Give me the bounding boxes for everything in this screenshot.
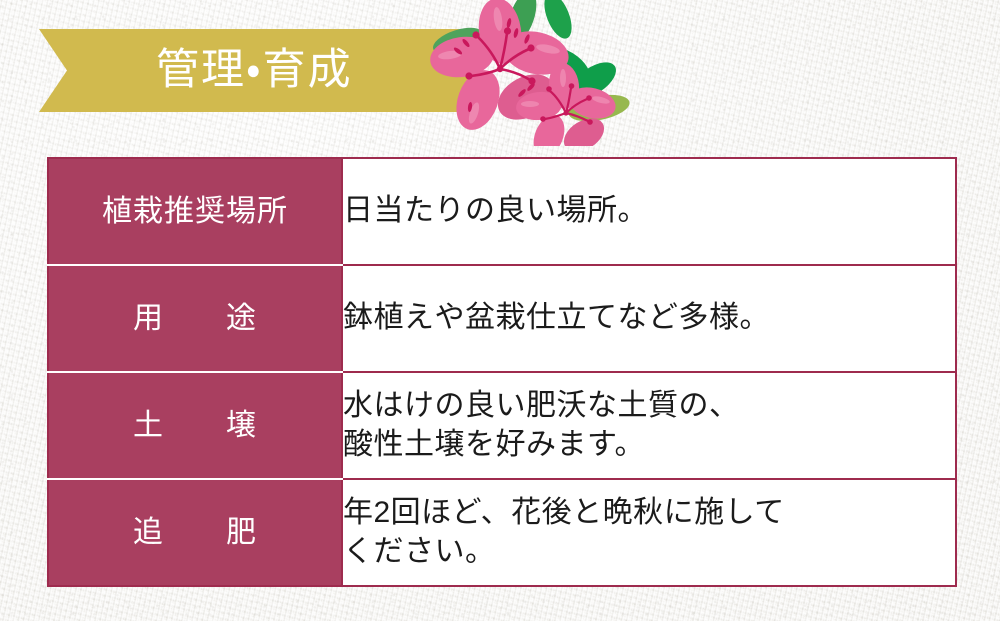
table-row-value: 水はけの良い肥沃な土質の、 酸性土壌を好みます。 <box>342 372 956 479</box>
table-row: 土 壌 水はけの良い肥沃な土質の、 酸性土壌を好みます。 <box>48 372 956 479</box>
care-information-table: 植栽推奨場所 日当たりの良い場所。 用 途 鉢植えや盆栽仕立てなど多様。 土 壌… <box>47 157 957 587</box>
table-row-value: 年2回ほど、花後と晩秋に施して ください。 <box>342 479 956 586</box>
table-row-value: 鉢植えや盆栽仕立てなど多様。 <box>342 265 956 372</box>
banner-title: 管理・育成 <box>39 29 474 112</box>
section-banner: 管理・育成 <box>39 29 474 112</box>
care-table-body: 植栽推奨場所 日当たりの良い場所。 用 途 鉢植えや盆栽仕立てなど多様。 土 壌… <box>48 158 956 586</box>
table-row: 追 肥 年2回ほど、花後と晩秋に施して ください。 <box>48 479 956 586</box>
table-row-label: 土 壌 <box>48 372 342 479</box>
table-row-label: 追 肥 <box>48 479 342 586</box>
table-row: 植栽推奨場所 日当たりの良い場所。 <box>48 158 956 265</box>
table-row-label: 植栽推奨場所 <box>48 158 342 265</box>
table-row-label: 用 途 <box>48 265 342 372</box>
table-row: 用 途 鉢植えや盆栽仕立てなど多様。 <box>48 265 956 372</box>
table-row-value: 日当たりの良い場所。 <box>342 158 956 265</box>
